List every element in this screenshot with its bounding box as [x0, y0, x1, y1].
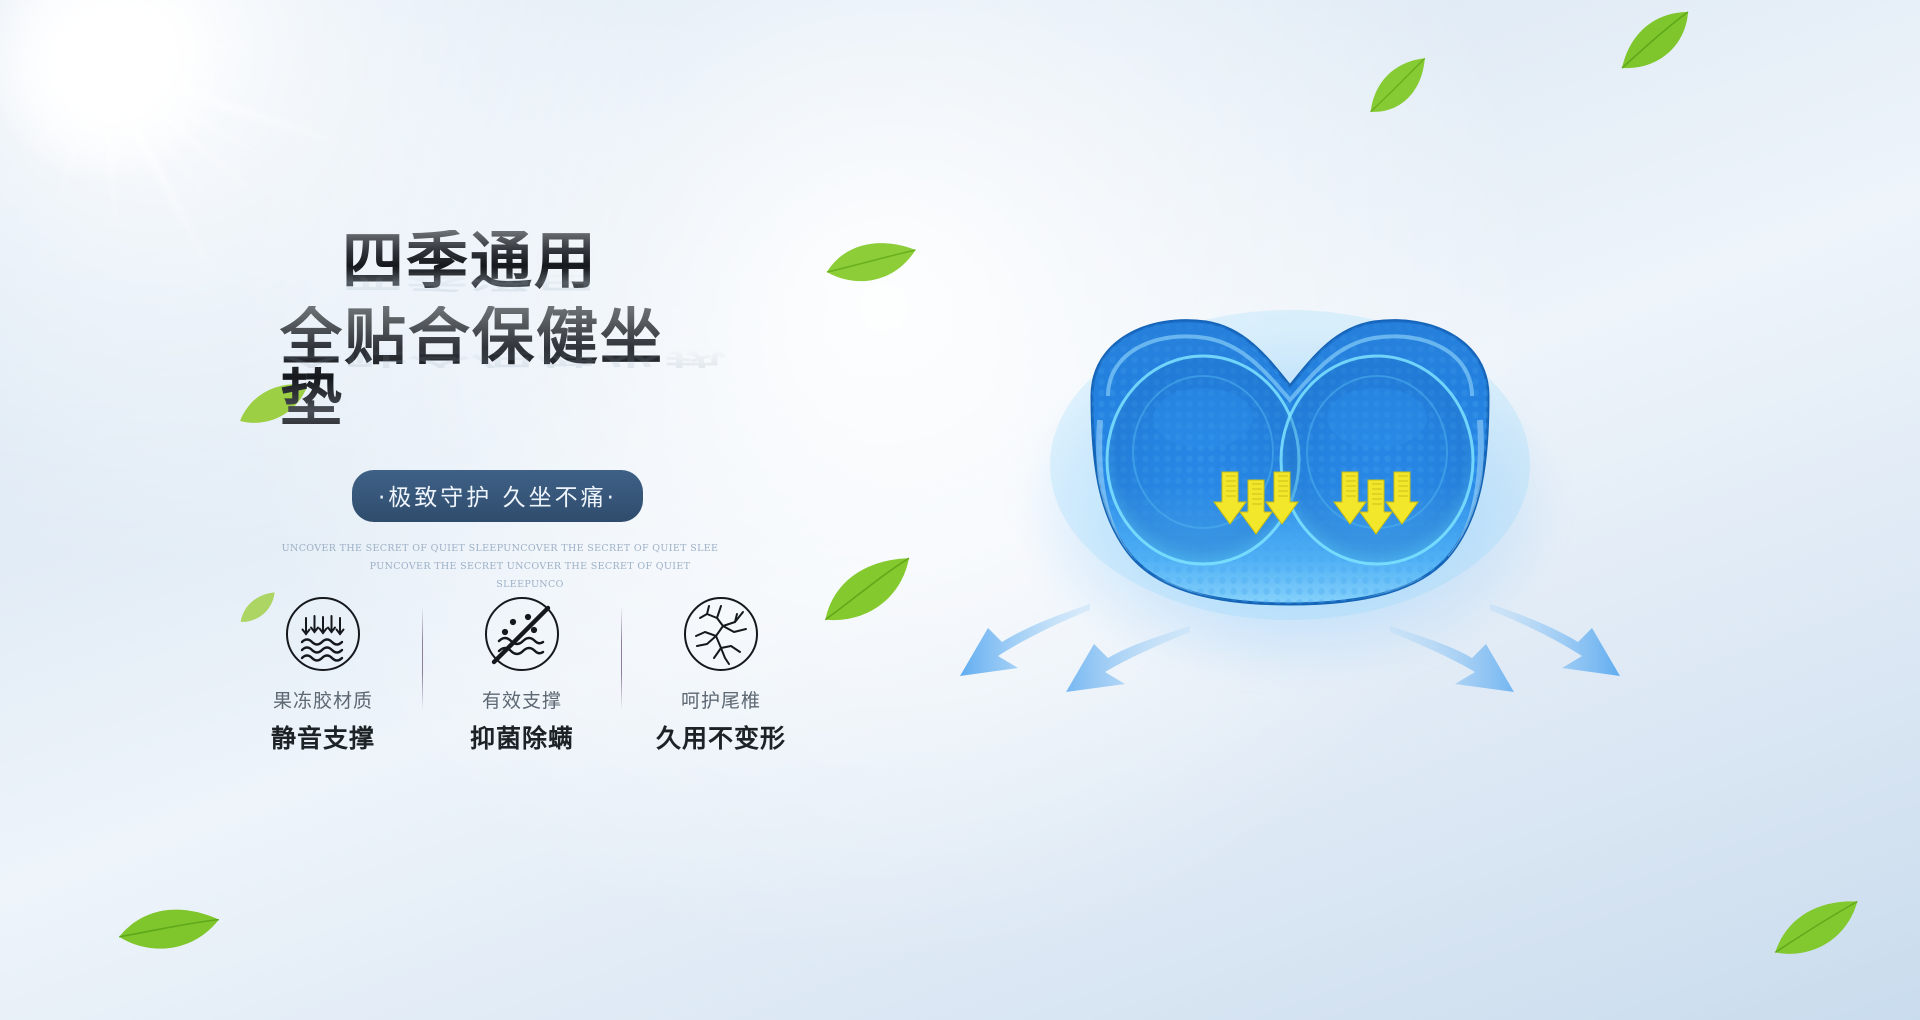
copy-block: 四季通用 四季通用 全贴合保健坐垫 全贴合保健坐垫 ·极致守护 久坐不痛· UN… [280, 230, 720, 594]
feature-sub-label: 果冻胶材质 [248, 686, 398, 713]
english-line-2: PUNCOVER THE SECRET UNCOVER THE SECRET O… [280, 558, 720, 594]
crack-pattern-circle-icon [683, 596, 759, 672]
headline-line2: 全贴合保健坐垫 [280, 306, 720, 430]
feature-sub-label: 呵护尾椎 [646, 686, 796, 713]
feature-main-label: 抑菌除螨 [447, 719, 597, 755]
no-mites-slash-circle-icon [484, 596, 560, 672]
feature-item-quiet-support: 果冻胶材质 静音支撑 [248, 596, 398, 755]
feature-main-label: 静音支撑 [248, 719, 398, 755]
headline-wrap-2: 全贴合保健坐垫 全贴合保健坐垫 [280, 306, 720, 430]
leaf-icon [1620, 10, 1690, 72]
spread-arrow-right-inner [1390, 626, 1514, 692]
feature-divider [422, 606, 423, 710]
feature-main-label: 久用不变形 [646, 719, 796, 755]
english-decorative-text: UNCOVER THE SECRET OF QUIET SLEEPUNCOVER… [280, 540, 720, 594]
feature-sub-label: 有效支撑 [447, 686, 597, 713]
leaf-icon [823, 227, 918, 298]
leaf-icon [1767, 895, 1865, 962]
headline-line1: 四季通用 [342, 230, 720, 292]
feature-list: 果冻胶材质 静音支撑 有效支撑 抑菌除 [248, 596, 796, 755]
english-line-1: UNCOVER THE SECRET OF QUIET SLEEPUNCOVER… [280, 540, 720, 558]
downward-arrows-over-waves-icon [285, 596, 361, 672]
leaf-icon [1356, 52, 1439, 120]
leaf-icon [813, 552, 920, 630]
spread-arrow-left-inner [1066, 626, 1190, 692]
gel-cushion-shape [1030, 300, 1550, 630]
sun-core [0, 0, 220, 180]
leaf-icon [114, 888, 223, 972]
feature-divider [621, 606, 622, 710]
badge-row: ·极致守护 久坐不痛· [280, 430, 720, 522]
headline-wrap: 四季通用 四季通用 [280, 230, 720, 292]
product-image [1000, 300, 1580, 720]
feature-item-no-deform: 呵护尾椎 久用不变形 [646, 596, 796, 755]
feature-item-antibacterial: 有效支撑 抑菌除螨 [447, 596, 597, 755]
banner-canvas: 四季通用 四季通用 全贴合保健坐垫 全贴合保健坐垫 ·极致守护 久坐不痛· UN… [0, 0, 1920, 1020]
tagline-badge: ·极致守护 久坐不痛· [352, 470, 643, 522]
